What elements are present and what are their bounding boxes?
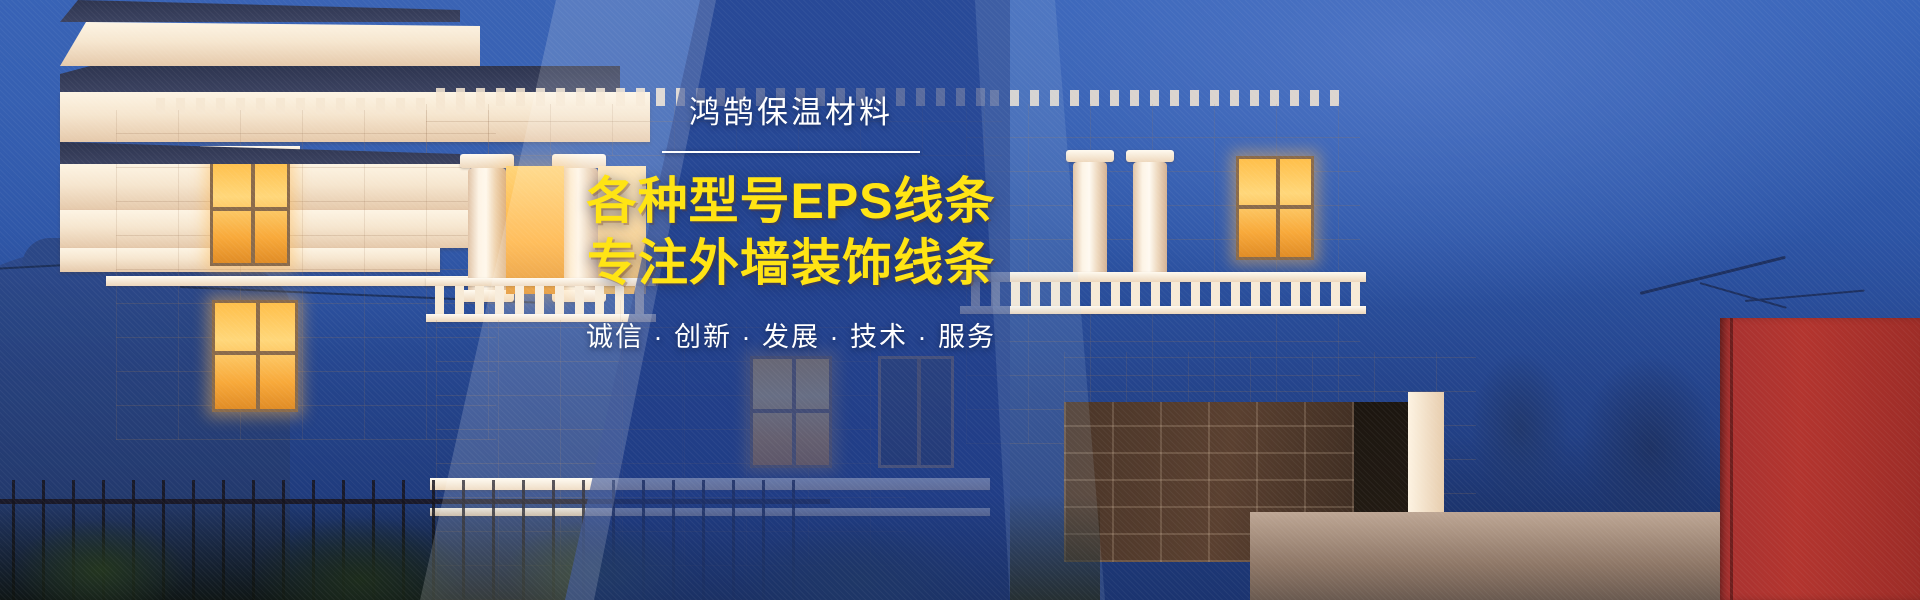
wing-column bbox=[1073, 162, 1107, 282]
lit-window bbox=[210, 158, 290, 266]
left-wing-cornice bbox=[60, 22, 480, 66]
left-wing-roof bbox=[60, 0, 460, 22]
wing-column bbox=[1133, 162, 1167, 282]
headline-line-1: 各种型号EPS线条 bbox=[556, 171, 1026, 231]
column-capital bbox=[1066, 150, 1114, 162]
column-capital bbox=[1126, 150, 1174, 162]
promo-banner: 鸿鹄保温材料 各种型号EPS线条 专注外墙装饰线条 诚信 · 创新 · 发展 ·… bbox=[0, 0, 1920, 600]
company-name: 鸿鹄保温材料 bbox=[556, 96, 1026, 130]
tagline: 诚信 · 创新 · 发展 · 技术 · 服务 bbox=[556, 315, 1026, 354]
headline-line-2: 专注外墙装饰线条 bbox=[556, 233, 1026, 293]
lit-window bbox=[1236, 156, 1314, 260]
banner-copy: 鸿鹄保温材料 各种型号EPS线条 专注外墙装饰线条 诚信 · 创新 · 发展 ·… bbox=[556, 96, 1026, 354]
red-wall bbox=[1720, 318, 1920, 600]
divider-rule bbox=[662, 151, 920, 153]
lit-window bbox=[212, 300, 298, 412]
